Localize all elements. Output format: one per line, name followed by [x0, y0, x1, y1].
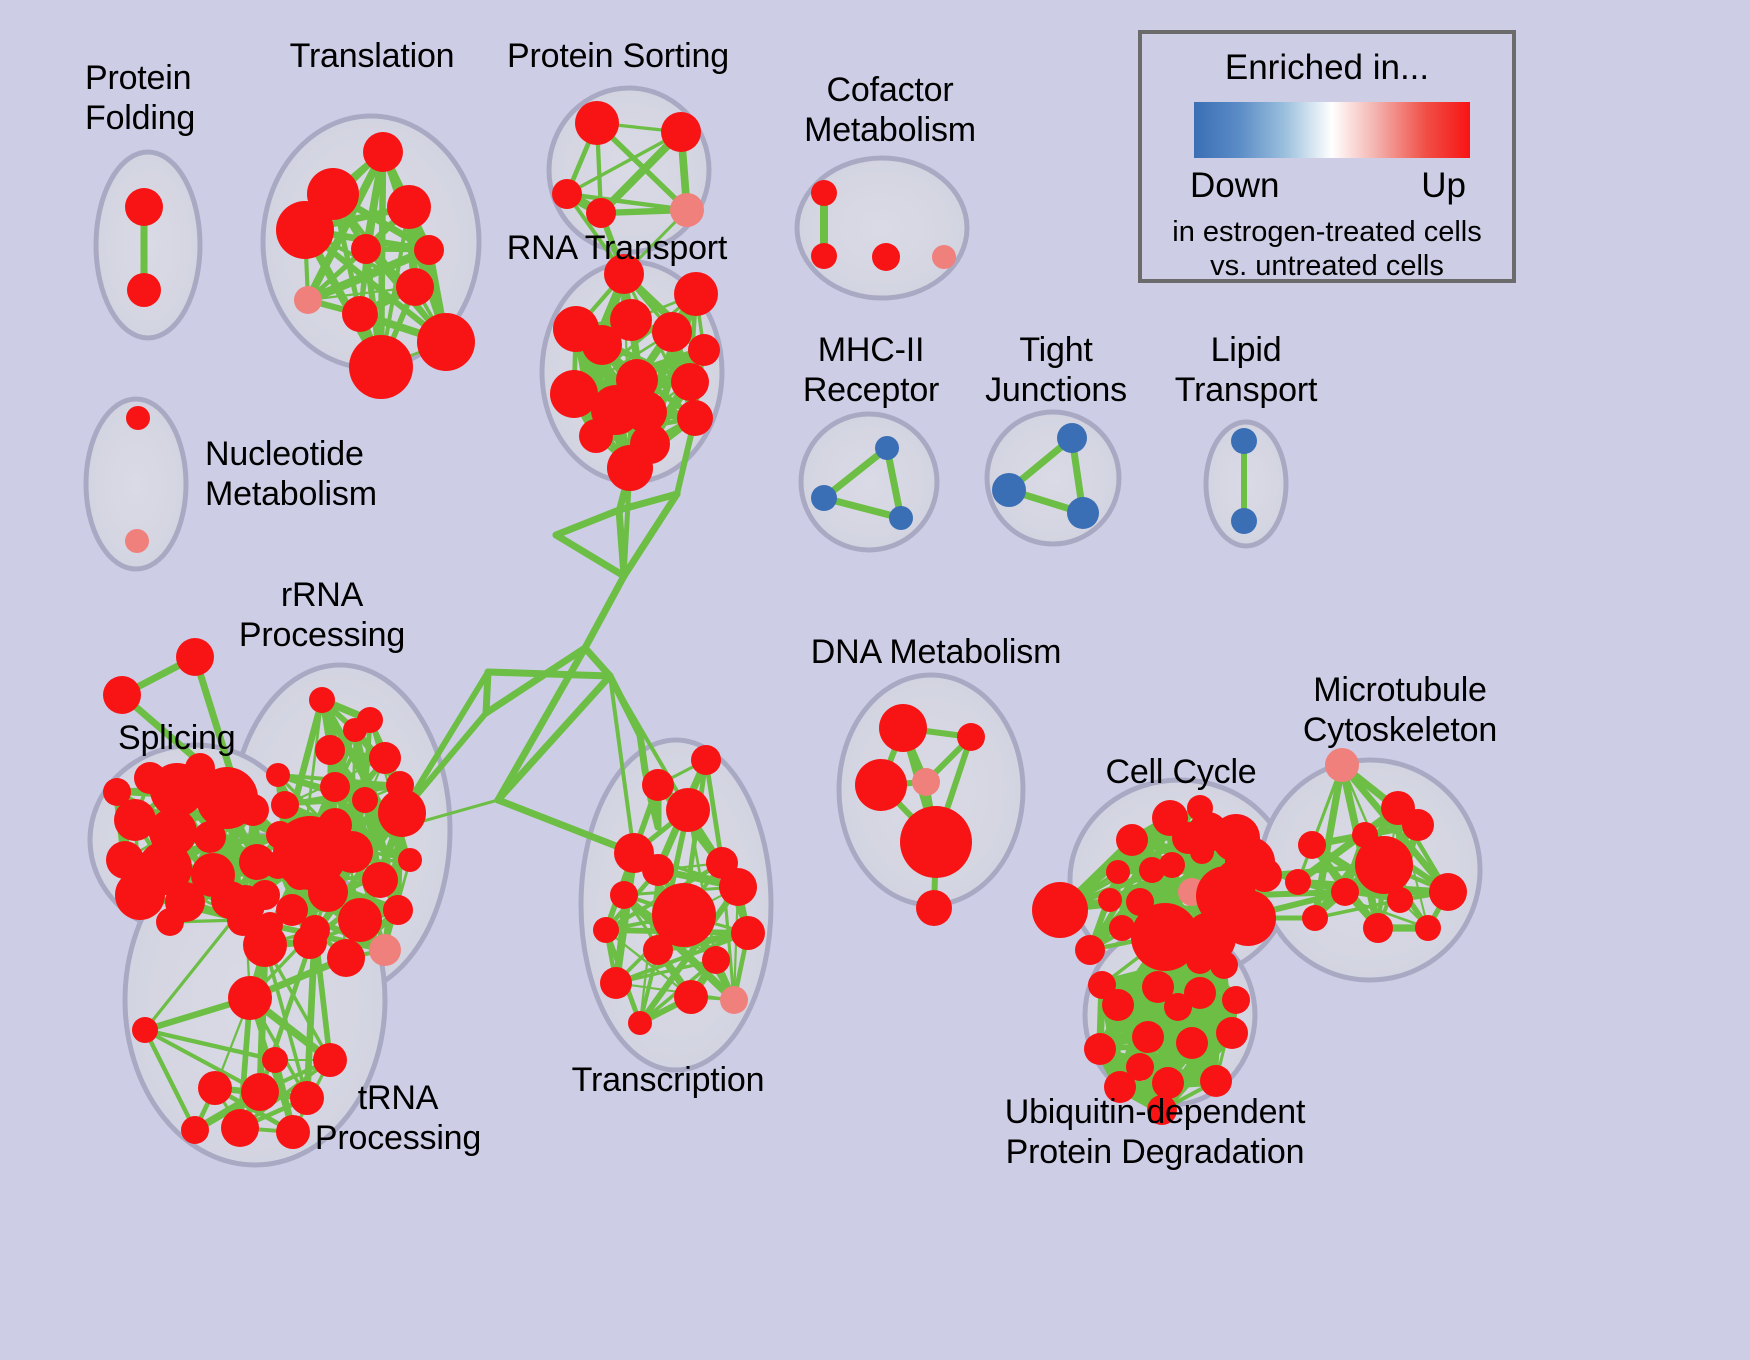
network-node: [811, 485, 837, 511]
network-node: [1159, 852, 1185, 878]
legend-colorbar: [1194, 102, 1470, 158]
network-node: [228, 976, 272, 1020]
network-node: [1429, 873, 1467, 911]
network-node: [414, 235, 444, 265]
network-node: [642, 854, 674, 886]
network-node: [276, 201, 334, 259]
network-node: [1210, 951, 1238, 979]
network-node: [957, 723, 985, 751]
network-node: [670, 193, 704, 227]
network-node: [290, 1081, 324, 1115]
network-node: [1152, 1067, 1184, 1099]
network-node: [652, 312, 692, 352]
network-node: [1032, 882, 1088, 938]
network-node: [342, 296, 378, 332]
network-node: [811, 243, 837, 269]
network-node: [294, 286, 322, 314]
network-node: [719, 868, 757, 906]
network-node: [221, 1109, 259, 1147]
network-node: [352, 787, 378, 813]
network-node: [1325, 748, 1359, 782]
network-edge: [640, 735, 645, 770]
network-node: [134, 762, 166, 794]
network-edge: [556, 510, 619, 535]
network-node: [1415, 915, 1441, 941]
network-node: [396, 268, 434, 306]
network-node: [369, 934, 401, 966]
network-node: [550, 370, 598, 418]
network-node: [674, 272, 718, 316]
network-node: [343, 718, 367, 742]
network-node: [320, 772, 350, 802]
network-node: [593, 917, 619, 943]
network-node: [262, 1047, 288, 1073]
network-node: [889, 506, 913, 530]
network-node: [1067, 497, 1099, 529]
network-node: [1216, 1017, 1248, 1049]
network-node: [691, 745, 721, 775]
network-node: [1075, 935, 1105, 965]
network-node: [398, 848, 422, 872]
network-node: [241, 1073, 279, 1111]
network-node: [552, 179, 582, 209]
network-node: [666, 788, 710, 832]
network-node: [702, 946, 730, 974]
network-node: [386, 771, 414, 799]
network-node: [1098, 888, 1122, 912]
network-node: [103, 676, 141, 714]
legend-low-label: Down: [1190, 166, 1279, 206]
network-node: [610, 881, 638, 909]
network-node: [1084, 1033, 1116, 1065]
network-node: [383, 895, 413, 925]
network-node: [369, 742, 401, 774]
network-edge: [585, 576, 624, 648]
network-node: [1176, 1027, 1208, 1059]
network-node: [1172, 822, 1204, 854]
network-node: [811, 180, 837, 206]
network-node: [582, 325, 622, 365]
network-node: [1231, 508, 1257, 534]
network-edge: [585, 648, 610, 676]
network-node: [1132, 1021, 1164, 1053]
network-node: [688, 334, 720, 366]
network-node: [912, 768, 940, 796]
network-node: [1363, 913, 1393, 943]
network-node: [1116, 824, 1148, 856]
network-node: [266, 763, 290, 787]
network-node: [243, 923, 287, 967]
network-node: [103, 778, 131, 806]
network-node: [607, 445, 653, 491]
network-node: [661, 112, 701, 152]
network-node: [132, 1017, 158, 1043]
network-node: [194, 821, 226, 853]
network-node: [872, 243, 900, 271]
network-node: [283, 848, 317, 882]
cluster-ellipse-protein-folding: [96, 152, 200, 338]
network-node: [1355, 836, 1413, 894]
network-node: [579, 419, 613, 453]
network-node: [363, 132, 403, 172]
network-node: [1088, 971, 1116, 999]
cluster-ellipse-mhc-ii-receptor: [801, 414, 937, 550]
network-edge: [556, 535, 624, 576]
network-node: [600, 967, 632, 999]
legend-subtitle-line2: vs. untreated cells: [1142, 250, 1512, 283]
network-node: [671, 363, 709, 401]
network-node: [239, 844, 275, 880]
network-node: [1222, 986, 1250, 1014]
legend-title: Enriched in...: [1142, 48, 1512, 88]
network-node: [992, 473, 1026, 507]
network-node: [628, 1011, 652, 1035]
network-node: [338, 898, 382, 942]
network-node: [176, 638, 214, 676]
network-node: [271, 791, 299, 819]
network-node: [1186, 946, 1214, 974]
network-node: [677, 400, 713, 436]
network-node: [1218, 861, 1246, 889]
network-node: [1200, 1065, 1232, 1097]
network-node: [1285, 869, 1311, 895]
network-node: [575, 101, 619, 145]
network-node: [313, 1043, 347, 1077]
network-node: [1057, 423, 1087, 453]
legend-panel: Enriched in... Down Up in estrogen-treat…: [1138, 30, 1516, 283]
network-node: [349, 335, 413, 399]
network-node: [604, 254, 644, 294]
network-node: [916, 890, 952, 926]
network-node: [1164, 993, 1192, 1021]
network-node: [225, 885, 265, 925]
network-node: [362, 862, 398, 898]
network-node: [125, 529, 149, 553]
network-node: [156, 908, 184, 936]
network-node: [387, 185, 431, 229]
network-node: [674, 980, 708, 1014]
network-node: [1248, 858, 1282, 892]
network-node: [1147, 1095, 1177, 1125]
network-node: [125, 188, 163, 226]
network-node: [643, 935, 673, 965]
network-node: [127, 273, 161, 307]
network-node: [1387, 887, 1413, 913]
legend-high-label: Up: [1421, 166, 1466, 206]
network-node: [1106, 860, 1130, 884]
network-node: [351, 234, 381, 264]
network-node: [1402, 809, 1434, 841]
network-node: [309, 687, 335, 713]
network-node: [1331, 878, 1359, 906]
network-node: [225, 782, 251, 808]
network-node: [586, 198, 616, 228]
network-node: [115, 870, 165, 920]
network-node: [1126, 1053, 1154, 1081]
network-node: [900, 806, 972, 878]
network-node: [276, 1115, 310, 1149]
network-node: [185, 753, 215, 783]
network-node: [1302, 905, 1328, 931]
network-node: [1231, 428, 1257, 454]
network-node: [1298, 831, 1326, 859]
network-node: [932, 245, 956, 269]
network-node: [198, 1071, 232, 1105]
network-node: [875, 436, 899, 460]
network-node: [181, 1116, 209, 1144]
network-node: [720, 986, 748, 1014]
network-node: [315, 735, 345, 765]
network-node: [327, 939, 365, 977]
network-node: [417, 313, 475, 371]
enrichment-map-figure: Protein FoldingTranslationProtein Sortin…: [0, 0, 1750, 1360]
network-node: [300, 915, 330, 945]
network-node: [642, 769, 674, 801]
network-node: [855, 759, 907, 811]
legend-subtitle-line1: in estrogen-treated cells: [1142, 216, 1512, 249]
network-node: [126, 406, 150, 430]
network-node: [879, 704, 927, 752]
network-node: [731, 916, 765, 950]
